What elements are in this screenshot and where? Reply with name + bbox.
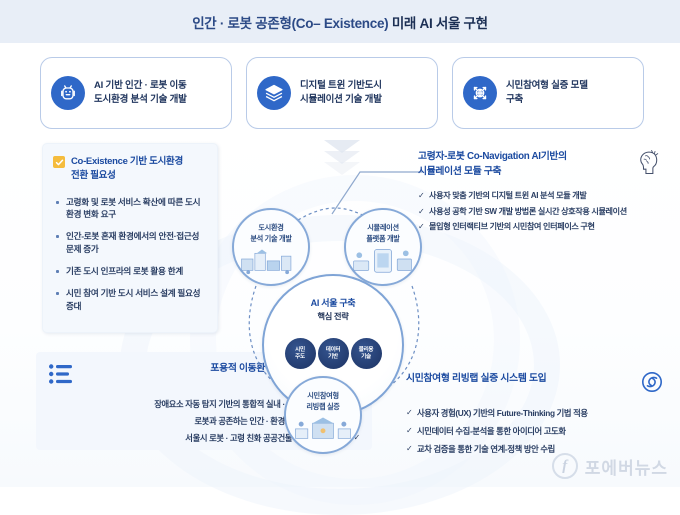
top-box-citizen-model[interactable]: 시민참여형 실증 모델 구축	[452, 57, 644, 129]
list-item: 인간-로봇 혼재 환경에서의 안전·접근성 문제 증가	[53, 230, 207, 256]
infographic-page: 인간 · 로봇 공존형(Co– Existence) 미래 AI 서울 구현 A…	[0, 0, 680, 487]
satellite-line1: 시민참여형	[286, 391, 360, 401]
top-box-line1: 시민참여형 실증 모델	[506, 79, 588, 93]
top-box-line2: 시뮬레이션 기술 개발	[300, 93, 382, 107]
watermark-text: 포에버뉴스	[585, 454, 668, 479]
page-header: 인간 · 로봇 공존형(Co– Existence) 미래 AI 서울 구현	[0, 0, 680, 43]
top-right-panel-conavigation: 고령자-로봇 Co-Navigation AI기반의 시뮬레이션 모듈 구축 사…	[418, 150, 664, 242]
satellite-line1: 도시환경	[234, 223, 308, 233]
watermark: f 포에버뉴스	[552, 453, 668, 479]
list-item: 시민 참여 기반 도시 서비스 설계 필요성 증대	[53, 287, 207, 313]
list-checklist-icon	[48, 362, 74, 391]
list-item: 시민데이터 수집-분석을 통한 아이디어 고도화	[406, 425, 664, 437]
top-box-digital-twin[interactable]: 디지털 트윈 기반도시 시뮬레이션 기술 개발	[246, 57, 438, 129]
bottom-right-panel-livinglab: 시민참여형 리빙랩 실증 시스템 도입 사용자 경험(UX) 기반의 Futur…	[406, 370, 664, 456]
top-right-panel-title-line1: 고령자-로봇 Co-Navigation AI기반의	[418, 150, 567, 165]
satellite-livinglab[interactable]: 시민참여형 리빙랩 실증	[284, 376, 362, 454]
left-panel-bullet-list: 고령화 및 로봇 서비스 확산에 따른 도시환경 변화 요구 인간-로봇 혼재 …	[53, 196, 207, 313]
satellite-urban-environment[interactable]: 도시환경 분석 기술 개발	[232, 208, 310, 286]
list-item: 고령화 및 로봇 서비스 확산에 따른 도시환경 변화 요구	[53, 196, 207, 222]
top-box-label: 시민참여형 실증 모델 구축	[506, 79, 588, 107]
list-item: 기존 도시 인프라의 로봇 활용 한계	[53, 265, 207, 278]
pillar-line1: 시민	[295, 347, 305, 354]
robot-icon	[51, 76, 85, 110]
page-title-part2: 미래 AI 서울 구현	[392, 16, 488, 31]
center-diagram: 도시환경 분석 기술 개발 시뮬레이션 플랫폼 개발	[226, 190, 442, 470]
brain-head-icon	[634, 148, 664, 183]
top-box-line2: 도시환경 분석 기술 개발	[94, 93, 187, 107]
top-box-label: AI 기반 인간 · 로봇 이동 도시환경 분석 기술 개발	[94, 79, 187, 107]
center-pillars: 시민 주도 데이터 기반 물리융 기술	[264, 338, 402, 369]
list-item: 사용성 공학 기반 SW 개발 방법론 실시간 상호작용 시뮬레이션	[418, 206, 664, 218]
top-box-line2: 구축	[506, 93, 588, 107]
left-panel-title-line2: 전환 필요성	[71, 169, 183, 183]
satellite-line1: 시뮬레이션	[346, 223, 420, 233]
top-right-panel-title-line2: 시뮬레이션 모듈 구축	[418, 165, 567, 180]
top-strategy-boxes: AI 기반 인간 · 로봇 이동 도시환경 분석 기술 개발 디지털 트윈 기반…	[40, 57, 644, 129]
spiral-swirl-icon	[640, 370, 664, 399]
people-illustration-icon	[286, 409, 360, 445]
top-box-line1: AI 기반 인간 · 로봇 이동	[94, 79, 187, 93]
layers-icon	[257, 76, 291, 110]
list-item: 사용자 경험(UX) 기반의 Future-Thinking 기법 적용	[406, 407, 664, 419]
bottom-right-panel-bullet-list: 사용자 경험(UX) 기반의 Future-Thinking 기법 적용 시민데…	[406, 407, 664, 455]
devices-illustration-icon	[346, 241, 420, 277]
page-title-part1: 인간 · 로봇 공존형(Co– Existence)	[192, 16, 392, 31]
list-item: 몰입형 인터랙티브 기반의 시민참여 인터페이스 구현	[418, 221, 664, 233]
left-panel-necessity: Co-Existence 기반 도시환경 전환 필요성 고령화 및 로봇 서비스…	[42, 143, 218, 333]
satellite-simulation[interactable]: 시뮬레이션 플랫폼 개발	[344, 208, 422, 286]
left-panel-title: Co-Existence 기반 도시환경 전환 필요성	[71, 155, 183, 184]
top-box-ai-mobility[interactable]: AI 기반 인간 · 로봇 이동 도시환경 분석 기술 개발	[40, 57, 232, 129]
pillar-line1: 물리융	[359, 347, 374, 354]
bottom-right-panel-header: 시민참여형 리빙랩 실증 시스템 도입	[406, 370, 664, 399]
top-right-panel-title: 고령자-로봇 Co-Navigation AI기반의 시뮬레이션 모듈 구축	[418, 150, 567, 179]
pillar-citizen-led[interactable]: 시민 주도	[285, 338, 316, 369]
pillar-line1: 데이터	[326, 347, 341, 354]
pillar-line2: 기반	[328, 354, 338, 361]
pillar-line2: 기술	[361, 354, 371, 361]
top-right-panel-header: 고령자-로봇 Co-Navigation AI기반의 시뮬레이션 모듈 구축	[418, 150, 664, 183]
globe-network-icon	[463, 76, 497, 110]
list-item: 사용자 맞춤 기반의 디지털 트윈 AI 분석 모듈 개발	[418, 190, 664, 202]
pillar-line2: 주도	[295, 354, 305, 361]
check-square-icon	[53, 156, 65, 168]
page-title: 인간 · 로봇 공존형(Co– Existence) 미래 AI 서울 구현	[192, 12, 488, 32]
pillar-data-driven[interactable]: 데이터 기반	[318, 338, 349, 369]
top-right-panel-bullet-list: 사용자 맞춤 기반의 디지털 트윈 AI 분석 모듈 개발 사용성 공학 기반 …	[418, 190, 664, 233]
left-panel-header: Co-Existence 기반 도시환경 전환 필요성	[53, 155, 207, 184]
pillar-physical-convergence[interactable]: 물리융 기술	[351, 338, 382, 369]
watermark-logo-icon: f	[552, 453, 578, 479]
city-illustration-icon	[234, 241, 308, 277]
top-box-label: 디지털 트윈 기반도시 시뮬레이션 기술 개발	[300, 79, 382, 107]
left-panel-title-line1: Co-Existence 기반 도시환경	[71, 155, 183, 169]
top-box-line1: 디지털 트윈 기반도시	[300, 79, 382, 93]
center-title: AI 서울 구축	[264, 296, 402, 309]
center-subtitle: 핵심 전략	[264, 310, 402, 322]
